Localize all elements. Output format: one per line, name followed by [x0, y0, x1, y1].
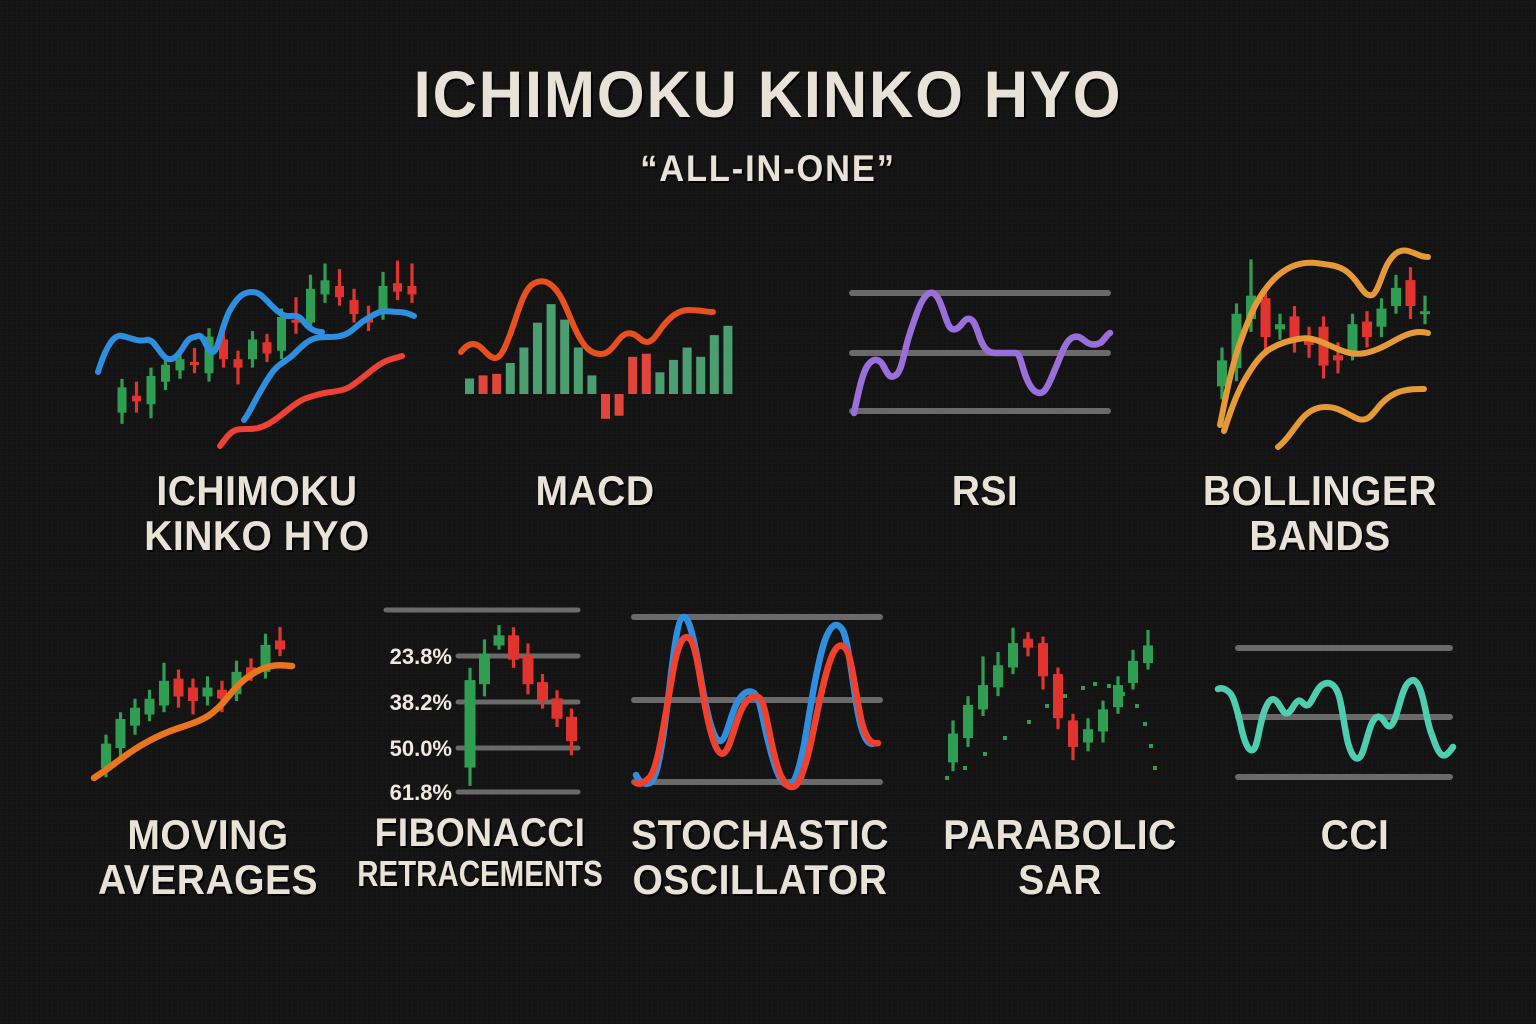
- candle-body: [1333, 355, 1343, 360]
- candle-body: [552, 698, 563, 718]
- panel-macd[interactable]: [455, 262, 735, 422]
- ichimoku-kijun-line: [244, 311, 414, 420]
- candle-body: [1377, 309, 1387, 327]
- candle-body: [277, 317, 286, 351]
- panel-cci[interactable]: [1210, 635, 1455, 780]
- candle-body: [147, 376, 156, 404]
- candle-body: [1038, 643, 1048, 676]
- stochastic-d-line: [636, 637, 878, 787]
- bollinger-lower-band: [1278, 389, 1424, 447]
- sar-dot: [1045, 704, 1049, 708]
- candle-body: [275, 640, 285, 649]
- macd-histogram-bar: [696, 357, 705, 394]
- candle-body: [248, 339, 257, 359]
- candle-body: [1275, 324, 1285, 329]
- candle-body: [494, 635, 505, 645]
- candle-body: [1217, 360, 1227, 386]
- rsi-chart-icon: [848, 285, 1118, 425]
- candle-body: [523, 656, 534, 684]
- parabolic-sar-chart-icon: [935, 608, 1160, 788]
- candle-body: [188, 688, 198, 701]
- sar-dot: [1027, 720, 1031, 724]
- sar-dot: [1063, 694, 1067, 698]
- candle-body: [1083, 729, 1093, 742]
- candle-body: [1348, 324, 1358, 353]
- caption-moving-averages: MOVING AVERAGES: [59, 812, 357, 903]
- page-title: ICHIMOKU KINKO HYO: [54, 56, 1482, 132]
- candle-body: [1008, 643, 1018, 667]
- candle-body: [350, 300, 359, 314]
- macd-histogram-bar: [547, 304, 556, 394]
- sar-dot: [983, 752, 987, 756]
- sar-dot: [1149, 744, 1153, 748]
- candle-body: [1143, 645, 1153, 663]
- sar-dot: [963, 766, 967, 770]
- stochastic-chart-icon: [630, 605, 885, 800]
- macd-signal-line: [461, 281, 713, 358]
- candle-body: [1113, 685, 1123, 707]
- macd-histogram-bar: [479, 375, 488, 394]
- macd-histogram-bar: [533, 323, 542, 394]
- ichimoku-chikou-line: [220, 356, 402, 446]
- ichimoku-chart-icon: [92, 240, 422, 455]
- candle-body: [335, 286, 344, 297]
- panel-fibonacci[interactable]: 23.8% 38.2% 50.0% 61.8%: [368, 602, 583, 802]
- caption-cci: CCI: [1262, 812, 1448, 857]
- moving-averages-chart-icon: [88, 608, 313, 788]
- panel-ichimoku[interactable]: [92, 240, 422, 455]
- candle-body: [1362, 322, 1372, 338]
- fib-label-238: 23.8%: [390, 644, 452, 669]
- macd-histogram-bar: [506, 363, 515, 394]
- sar-dot: [1143, 722, 1147, 726]
- caption-bollinger: BOLLINGER BANDS: [1171, 468, 1469, 559]
- sar-dot: [1121, 692, 1125, 696]
- candle-body: [176, 359, 185, 370]
- macd-histogram-bar: [465, 379, 474, 395]
- candle-body: [465, 680, 476, 767]
- candle-body: [1406, 280, 1416, 306]
- macd-histogram-bar: [560, 320, 569, 394]
- caption-macd: MACD: [469, 468, 720, 513]
- caption-stochastic: STOCHASTIC OSCILLATOR: [621, 812, 900, 903]
- caption-fibonacci: FIBONACCI RETRACEMENTS: [341, 812, 620, 894]
- sar-dot: [1153, 766, 1157, 770]
- candle-body: [321, 280, 330, 294]
- panel-parabolic-sar[interactable]: [935, 608, 1160, 788]
- candle-body: [508, 635, 519, 659]
- candle-wick: [410, 263, 413, 302]
- fib-label-500: 50.0%: [390, 736, 452, 761]
- candle-body: [1023, 639, 1033, 648]
- macd-histogram-bar: [669, 360, 678, 394]
- fibonacci-chart-icon: 23.8% 38.2% 50.0% 61.8%: [368, 602, 583, 802]
- candle-body: [234, 359, 243, 367]
- candle-body: [263, 342, 272, 353]
- macd-histogram-bar: [642, 354, 651, 394]
- macd-histogram-bar: [492, 374, 501, 394]
- candle-body: [993, 665, 1003, 687]
- candle-body: [116, 719, 126, 748]
- macd-histogram-bar: [723, 326, 732, 394]
- caption-ichimoku: ICHIMOKU KINKO HYO: [76, 468, 439, 559]
- macd-histogram-bar: [655, 372, 664, 394]
- candle-body: [1128, 661, 1138, 683]
- candle-body: [161, 365, 170, 382]
- panel-stochastic[interactable]: [630, 605, 885, 800]
- candle-body: [479, 654, 490, 685]
- candle-wick: [1423, 296, 1426, 325]
- candle-body: [190, 362, 199, 365]
- macd-histogram-bar: [615, 394, 624, 416]
- macd-histogram-bar: [574, 348, 583, 395]
- candle-body: [408, 286, 417, 294]
- fib-label-382: 38.2%: [390, 690, 452, 715]
- cci-chart-icon: [1210, 635, 1455, 780]
- macd-histogram-bar: [587, 375, 596, 394]
- candle-body: [203, 688, 213, 697]
- sar-dot: [945, 776, 949, 780]
- candle-body: [963, 705, 973, 738]
- macd-histogram-bar: [710, 335, 719, 394]
- fib-label-618: 61.8%: [390, 780, 452, 805]
- candle-body: [159, 681, 169, 706]
- macd-chart-icon: [455, 262, 735, 422]
- candle-body: [132, 396, 141, 402]
- sar-dot: [1003, 736, 1007, 740]
- candle-body: [1098, 709, 1108, 731]
- panel-rsi[interactable]: [848, 285, 1118, 425]
- panel-moving-averages[interactable]: [88, 608, 313, 788]
- candle-body: [1420, 311, 1430, 314]
- candle-body: [978, 685, 988, 709]
- candle-body: [1053, 674, 1063, 718]
- bollinger-middle-band: [1224, 332, 1428, 431]
- sar-dot: [1081, 686, 1085, 690]
- macd-histogram-bar: [601, 394, 610, 419]
- candle-wick: [193, 348, 196, 373]
- candle-body: [306, 289, 315, 323]
- candle-wick: [396, 261, 399, 300]
- candle-body: [566, 717, 577, 741]
- candle-body: [1391, 288, 1401, 306]
- candle-body: [537, 682, 548, 700]
- candle-body: [948, 734, 958, 763]
- candle-body: [145, 699, 155, 715]
- candle-body: [130, 708, 140, 726]
- panel-bollinger[interactable]: [1190, 235, 1440, 450]
- sar-dot: [1093, 682, 1097, 686]
- candle-body: [118, 387, 127, 412]
- macd-histogram-bar: [519, 348, 528, 395]
- macd-histogram-bar: [628, 357, 637, 394]
- candle-body: [379, 286, 388, 311]
- macd-histogram-bar: [683, 348, 692, 395]
- bollinger-chart-icon: [1190, 235, 1440, 450]
- candle-body: [1261, 298, 1271, 337]
- sar-dot: [1135, 704, 1139, 708]
- sar-dot: [1107, 684, 1111, 688]
- caption-rsi: RSI: [878, 468, 1092, 513]
- candle-body: [393, 283, 402, 291]
- caption-parabolic-sar: PARABOLIC SAR: [925, 812, 1195, 903]
- candle-body: [1068, 720, 1078, 746]
- candle-body: [174, 679, 184, 697]
- page-subtitle: “ALL-IN-ONE”: [54, 148, 1482, 190]
